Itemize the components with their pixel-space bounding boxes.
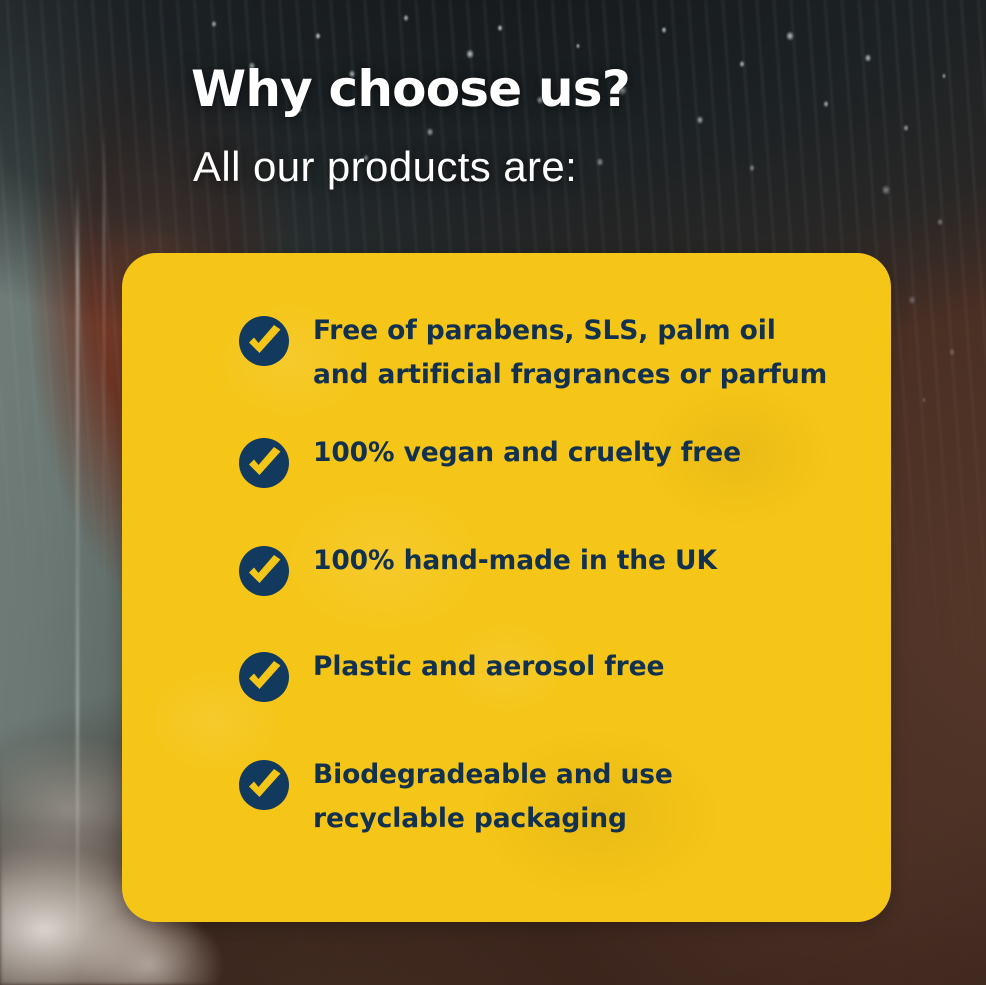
list-item: Plastic and aerosol free <box>239 651 664 702</box>
promo-graphic: Why choose us? All our products are: Fre… <box>0 0 986 985</box>
check-circle-icon <box>239 760 289 810</box>
benefits-card: Free of parabens, SLS, palm oil and arti… <box>122 253 891 922</box>
list-item-label: Plastic and aerosol free <box>313 645 664 689</box>
list-item: 100% vegan and cruelty free <box>239 437 741 488</box>
list-item-label: Biodegradeable and use recyclable packag… <box>313 753 673 841</box>
list-item: 100% hand-made in the UK <box>239 545 717 596</box>
check-circle-icon <box>239 438 289 488</box>
check-circle-icon <box>239 652 289 702</box>
list-item: Free of parabens, SLS, palm oil and arti… <box>239 315 827 397</box>
heading-group: Why choose us? All our products are: <box>191 60 891 190</box>
list-item-label: Free of parabens, SLS, palm oil and arti… <box>313 309 827 397</box>
page-title: Why choose us? <box>191 60 891 118</box>
list-item-label: 100% hand-made in the UK <box>313 539 717 583</box>
check-circle-icon <box>239 546 289 596</box>
list-item: Biodegradeable and use recyclable packag… <box>239 759 673 841</box>
list-item-label: 100% vegan and cruelty free <box>313 431 741 475</box>
check-circle-icon <box>239 316 289 366</box>
page-subtitle: All our products are: <box>193 144 891 190</box>
